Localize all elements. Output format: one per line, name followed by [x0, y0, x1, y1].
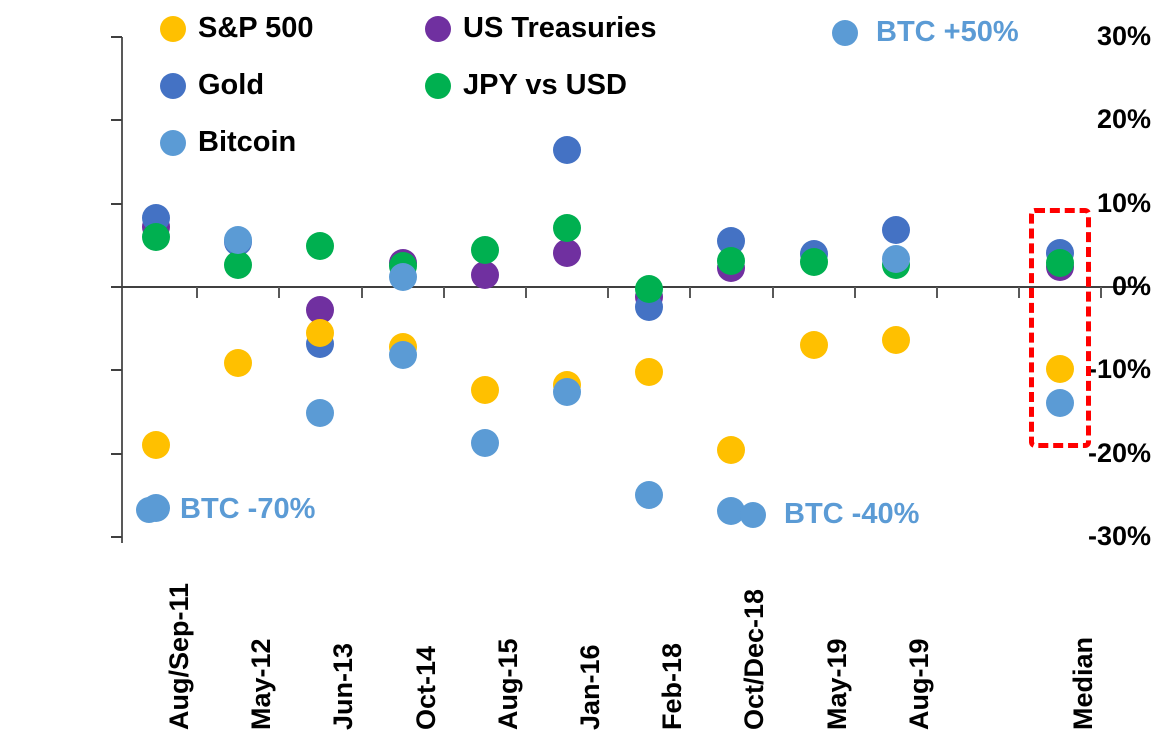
x-category-label: May-19 — [824, 638, 851, 730]
x-category-label: May-12 — [248, 638, 275, 730]
data-point-bitcoin — [389, 341, 417, 369]
x-tick — [689, 287, 691, 298]
x-tick — [443, 287, 445, 298]
legend-item-us-treasuries[interactable]: US Treasuries — [425, 14, 656, 43]
zero-baseline — [121, 286, 1143, 288]
annotation-btc-plus-50: BTC +50% — [832, 18, 1019, 47]
data-point-jpy-vs-usd — [306, 232, 334, 260]
x-tick — [1100, 287, 1102, 298]
legend-swatch-icon — [425, 16, 451, 42]
annotation-btc-minus-70: BTC -70% — [136, 495, 315, 524]
annotation-label: BTC +50% — [876, 18, 1019, 47]
x-category-label: Jan-16 — [577, 644, 604, 730]
x-category-label: Oct-14 — [413, 646, 440, 730]
bitcoin-dot-icon — [136, 497, 162, 523]
median-highlight-box — [1029, 208, 1091, 448]
data-point-jpy-vs-usd — [142, 223, 170, 251]
data-point-jpy-vs-usd — [553, 214, 581, 242]
legend-item-bitcoin[interactable]: Bitcoin — [160, 128, 296, 157]
y-tick — [111, 369, 122, 371]
x-tick — [607, 287, 609, 298]
data-point-s-p-500 — [142, 431, 170, 459]
data-point-s-p-500 — [471, 376, 499, 404]
x-category-label: Oct/Dec-18 — [741, 589, 768, 730]
y-tick — [111, 36, 122, 38]
x-tick — [278, 287, 280, 298]
annotation-btc-minus-40: BTC -40% — [740, 500, 919, 529]
legend-swatch-icon — [160, 16, 186, 42]
x-category-label: Feb-18 — [659, 643, 686, 730]
chart-root: 30%20%10%0%-10%-20%-30% Aug/Sep-11May-12… — [0, 0, 1151, 739]
data-point-bitcoin — [389, 263, 417, 291]
x-tick — [936, 287, 938, 298]
data-point-us-treasuries — [471, 261, 499, 289]
data-point-s-p-500 — [800, 331, 828, 359]
legend-label: Bitcoin — [198, 128, 296, 157]
legend-item-gold[interactable]: Gold — [160, 71, 264, 100]
y-tick — [111, 286, 122, 288]
annotation-label: BTC -70% — [180, 495, 315, 524]
data-point-s-p-500 — [717, 436, 745, 464]
x-category-label: Aug-19 — [906, 638, 933, 730]
x-category-label: Jun-13 — [330, 643, 357, 730]
x-tick — [361, 287, 363, 298]
x-tick — [525, 287, 527, 298]
data-point-us-treasuries — [553, 239, 581, 267]
legend-label: JPY vs USD — [463, 71, 627, 100]
data-point-bitcoin — [635, 481, 663, 509]
data-point-s-p-500 — [882, 326, 910, 354]
data-point-jpy-vs-usd — [471, 236, 499, 264]
bitcoin-dot-icon — [832, 20, 858, 46]
legend-swatch-icon — [425, 73, 451, 99]
legend-label: S&P 500 — [198, 14, 314, 43]
data-point-jpy-vs-usd — [635, 275, 663, 303]
legend-label: Gold — [198, 71, 264, 100]
annotation-label: BTC -40% — [784, 500, 919, 529]
x-category-label: Median — [1070, 637, 1097, 730]
y-tick — [111, 536, 122, 538]
x-tick — [196, 287, 198, 298]
bitcoin-dot-icon — [740, 502, 766, 528]
data-point-bitcoin — [882, 245, 910, 273]
y-tick-label: 20% — [1055, 106, 1151, 133]
y-tick — [111, 203, 122, 205]
y-tick — [111, 453, 122, 455]
x-tick — [1018, 287, 1020, 298]
data-point-bitcoin — [553, 378, 581, 406]
x-tick — [854, 287, 856, 298]
data-point-s-p-500 — [224, 349, 252, 377]
data-point-gold — [882, 216, 910, 244]
y-tick-label: -30% — [1055, 523, 1151, 550]
data-point-s-p-500 — [635, 358, 663, 386]
data-point-gold — [553, 136, 581, 164]
legend-swatch-icon — [160, 73, 186, 99]
x-category-label: Aug/Sep-11 — [166, 583, 193, 730]
y-tick — [111, 119, 122, 121]
legend-item-jpy-vs-usd[interactable]: JPY vs USD — [425, 71, 627, 100]
x-category-label: Aug-15 — [495, 638, 522, 730]
data-point-jpy-vs-usd — [224, 251, 252, 279]
y-tick-label: 30% — [1055, 23, 1151, 50]
legend-swatch-icon — [160, 130, 186, 156]
y-axis-line — [121, 37, 123, 543]
legend-label: US Treasuries — [463, 14, 656, 43]
data-point-bitcoin — [471, 429, 499, 457]
data-point-bitcoin — [306, 399, 334, 427]
legend-item-s-p-500[interactable]: S&P 500 — [160, 14, 314, 43]
x-tick — [772, 287, 774, 298]
data-point-jpy-vs-usd — [800, 248, 828, 276]
